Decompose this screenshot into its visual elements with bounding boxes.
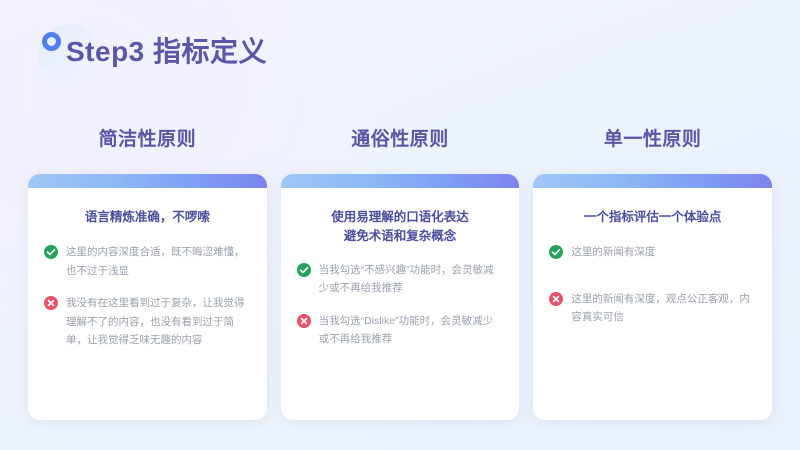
- card-body: 语言精炼准确，不啰嗦 这里的内容深度合适，既不晦涩难懂，也不过于浅显 我没有在这…: [28, 188, 267, 420]
- card-body: 一个指标评估一个体验点 这里的新闻有深度 这里的新闻有深度，观点公正客观，内容真…: [533, 188, 772, 420]
- list-item: 当我勾选“不感兴趣”功能时，会灵敏减少或不再给我推荐: [297, 261, 504, 298]
- principle-column: 简洁性原则 语言精炼准确，不啰嗦 这里的内容深度合适，既不晦涩难懂，也不过于浅显: [28, 124, 267, 420]
- list-item: 当我勾选“Dislike”功能时，会灵敏减少或不再给我推荐: [297, 312, 504, 349]
- column-heading: 通俗性原则: [281, 124, 520, 174]
- list-item: 我没有在这里看到过于复杂，让我觉得理解不了的内容，也没有看到过于简单，让我觉得乏…: [44, 294, 251, 349]
- card-title-line: 避免术语和复杂概念: [297, 227, 504, 246]
- column-heading: 单一性原则: [533, 124, 772, 174]
- card-title: 一个指标评估一个体验点: [549, 208, 756, 227]
- principle-card: 使用易理解的口语化表达 避免术语和复杂概念 当我勾选“不感兴趣”功能时，会灵敏减…: [281, 174, 520, 420]
- card-title: 语言精炼准确，不啰嗦: [44, 208, 251, 227]
- list-item: 这里的新闻有深度: [549, 243, 756, 261]
- card-title-line: 一个指标评估一个体验点: [549, 208, 756, 227]
- list-item-text: 这里的新闻有深度: [571, 243, 655, 261]
- cross-circle-icon: [549, 292, 563, 306]
- check-circle-icon: [44, 245, 58, 259]
- decorative-ring-icon: [42, 32, 61, 51]
- card-body: 使用易理解的口语化表达 避免术语和复杂概念 当我勾选“不感兴趣”功能时，会灵敏减…: [281, 188, 520, 420]
- card-title: 使用易理解的口语化表达 避免术语和复杂概念: [297, 208, 504, 247]
- card-title-line: 使用易理解的口语化表达: [297, 208, 504, 227]
- principles-columns: 简洁性原则 语言精炼准确，不啰嗦 这里的内容深度合适，既不晦涩难懂，也不过于浅显: [28, 124, 772, 420]
- check-circle-icon: [549, 245, 563, 259]
- list-item-text: 当我勾选“不感兴趣”功能时，会灵敏减少或不再给我推荐: [319, 261, 504, 298]
- card-title-line: 语言精炼准确，不啰嗦: [44, 208, 251, 227]
- list-item-text: 我没有在这里看到过于复杂，让我觉得理解不了的内容，也没有看到过于简单，让我觉得乏…: [66, 294, 251, 349]
- principle-card: 一个指标评估一个体验点 这里的新闻有深度 这里的新闻有深度，观点公正客观，内容真…: [533, 174, 772, 420]
- list-item: 这里的新闻有深度，观点公正客观，内容真实可信: [549, 290, 756, 327]
- example-list: 这里的内容深度合适，既不晦涩难懂，也不过于浅显 我没有在这里看到过于复杂，让我觉…: [44, 243, 251, 349]
- principle-column: 单一性原则 一个指标评估一个体验点 这里的新闻有深度: [533, 124, 772, 420]
- page-header: Step3 指标定义: [46, 30, 267, 70]
- list-item-text: 这里的内容深度合适，既不晦涩难懂，也不过于浅显: [66, 243, 251, 280]
- column-heading: 简洁性原则: [28, 124, 267, 174]
- card-accent-strip: [533, 174, 772, 188]
- card-accent-strip: [28, 174, 267, 188]
- example-list: 当我勾选“不感兴趣”功能时，会灵敏减少或不再给我推荐 当我勾选“Dislike”…: [297, 261, 504, 349]
- cross-circle-icon: [44, 296, 58, 310]
- cross-circle-icon: [297, 314, 311, 328]
- example-list: 这里的新闻有深度 这里的新闻有深度，观点公正客观，内容真实可信: [549, 243, 756, 326]
- list-item-text: 这里的新闻有深度，观点公正客观，内容真实可信: [571, 290, 756, 327]
- list-item: 这里的内容深度合适，既不晦涩难懂，也不过于浅显: [44, 243, 251, 280]
- principle-card: 语言精炼准确，不啰嗦 这里的内容深度合适，既不晦涩难懂，也不过于浅显 我没有在这…: [28, 174, 267, 420]
- list-item-text: 当我勾选“Dislike”功能时，会灵敏减少或不再给我推荐: [319, 312, 504, 349]
- card-accent-strip: [281, 174, 520, 188]
- principle-column: 通俗性原则 使用易理解的口语化表达 避免术语和复杂概念 当我勾选“不感兴趣”功能…: [281, 124, 520, 420]
- check-circle-icon: [297, 263, 311, 277]
- page-title: Step3 指标定义: [66, 30, 267, 70]
